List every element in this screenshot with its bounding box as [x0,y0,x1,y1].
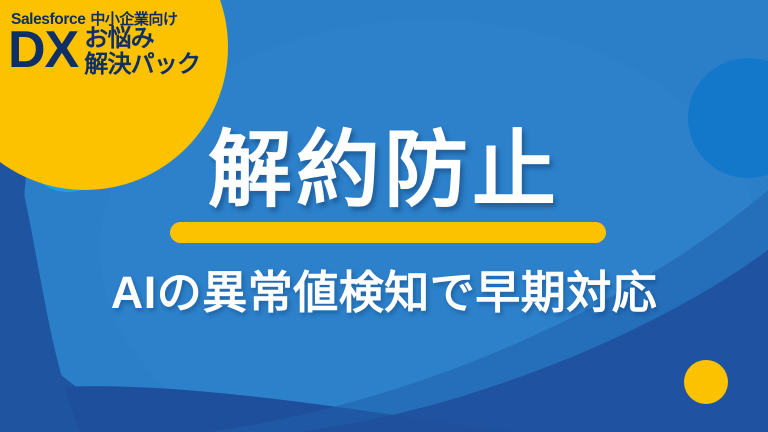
badge-dx-label: DX [8,25,78,76]
title-underline-bar [170,222,606,243]
page-subtitle: AIの異常値検知で早期対応 [0,268,768,318]
badge-stack-line-2: 解決パック [84,52,200,78]
badge-title-row: DX お悩み 解決パック [8,24,200,78]
badge-stack-line-1: お悩み [84,26,200,52]
decorative-dot-yellow [684,360,728,404]
badge-stacked-label: お悩み 解決パック [84,24,200,78]
headline-block: 解約防止 [0,128,768,212]
page-title: 解約防止 [0,128,768,212]
promo-slide: Salesforce 中小企業向け DX お悩み 解決パック 解約防止 AIの異… [0,0,768,432]
